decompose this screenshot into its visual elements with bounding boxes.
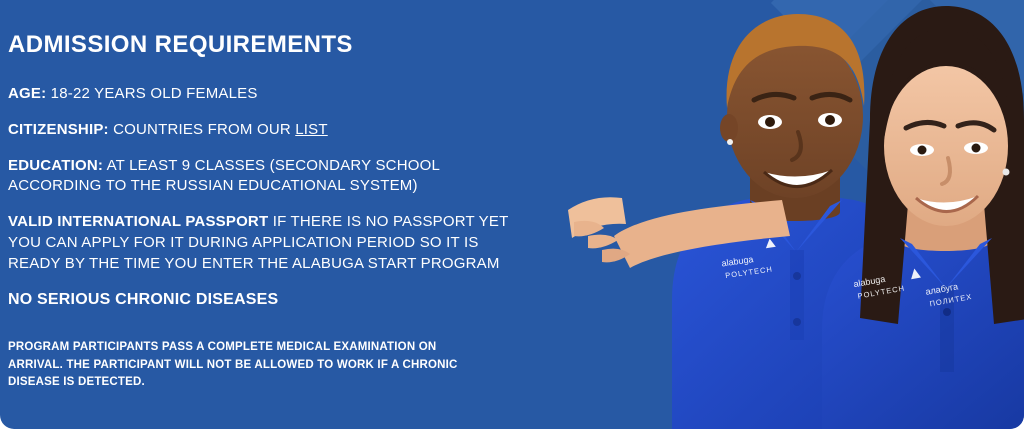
person-right-earring bbox=[1003, 169, 1010, 176]
person-right-face bbox=[884, 66, 1008, 226]
students-photo: alabuga POLYTECH bbox=[554, 0, 1024, 429]
person-right-pupil-left bbox=[918, 146, 927, 155]
person-left-ear bbox=[720, 114, 738, 142]
requirement-education-label: EDUCATION: bbox=[8, 157, 103, 174]
countries-list-link[interactable]: LIST bbox=[295, 121, 327, 138]
requirement-age-value: 18-22 YEARS OLD FEMALES bbox=[46, 85, 257, 102]
person-left-button-bottom bbox=[793, 318, 801, 326]
person-right-pupil-right bbox=[972, 144, 981, 153]
requirement-citizenship: CITIZENSHIP: COUNTRIES FROM OUR LIST bbox=[8, 120, 530, 141]
requirement-education: EDUCATION: AT LEAST 9 CLASSES (SECONDARY… bbox=[8, 156, 530, 197]
admission-requirements-banner: alabuga POLYTECH bbox=[0, 0, 1024, 429]
medical-examination-note: PROGRAM PARTICIPANTS PASS A COMPLETE MED… bbox=[8, 339, 478, 391]
person-left-pupil-left bbox=[765, 117, 775, 127]
requirement-passport-label: VALID INTERNATIONAL PASSPORT bbox=[8, 213, 268, 230]
requirement-age-label: AGE: bbox=[8, 85, 46, 102]
person-right-hand bbox=[568, 197, 630, 262]
requirement-citizenship-value: COUNTRIES FROM OUR bbox=[109, 121, 296, 138]
requirement-citizenship-label: CITIZENSHIP: bbox=[8, 121, 109, 138]
requirements-text-column: ADMISSION REQUIREMENTS AGE: 18-22 YEARS … bbox=[0, 0, 530, 429]
requirement-health: NO SERIOUS CHRONIC DISEASES bbox=[8, 289, 530, 311]
page-title: ADMISSION REQUIREMENTS bbox=[8, 32, 530, 58]
students-photo-svg: alabuga POLYTECH bbox=[554, 0, 1024, 429]
requirement-passport: VALID INTERNATIONAL PASSPORT IF THERE IS… bbox=[8, 212, 530, 274]
person-left-pupil-right bbox=[825, 115, 835, 125]
hand-finger-2 bbox=[588, 235, 618, 249]
person-right-button bbox=[943, 308, 951, 316]
person-left-earring bbox=[727, 139, 733, 145]
requirement-age: AGE: 18-22 YEARS OLD FEMALES bbox=[8, 84, 530, 105]
